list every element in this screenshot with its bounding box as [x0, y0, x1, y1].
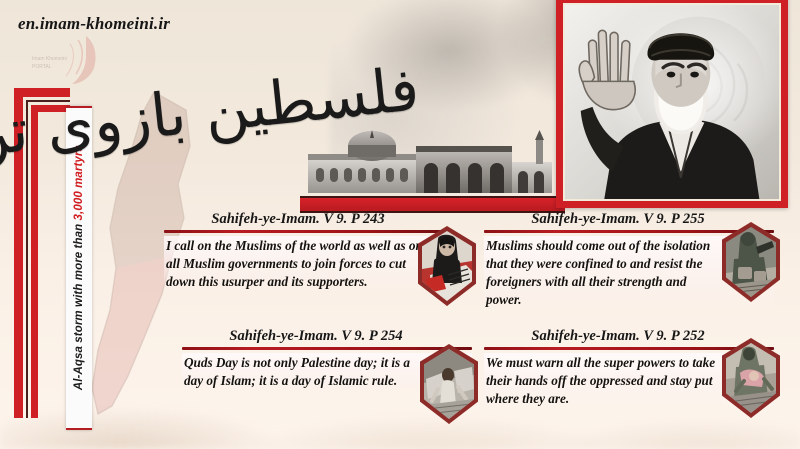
quote-divider-2 — [484, 230, 774, 233]
imam-khomeini-portrait-image — [563, 3, 781, 201]
imam-khomeini-logo-icon: Imam Khomeini PORTAL — [28, 34, 114, 86]
al-aqsa-mosque-image — [300, 128, 565, 193]
vertical-headline-lead: Al-Aqsa storm with more than — [73, 221, 85, 391]
quote-divider-3 — [182, 347, 472, 350]
vertical-headline-text: Al-Aqsa storm with more than 3,000 marty… — [73, 145, 85, 390]
quote-citation-2: Sahifeh-ye-Imam. V 9. P 255 — [484, 211, 774, 228]
site-url-text[interactable]: en.imam-khomeini.ir — [18, 14, 170, 34]
imam-khomeini-portrait-frame — [556, 0, 788, 208]
quote-citation-1: Sahifeh-ye-Imam. V 9. P 243 — [164, 211, 454, 228]
poster-canvas: Imam Khomeini PORTAL en.imam-khomeini.ir… — [0, 0, 800, 449]
quote-citation-4: Sahifeh-ye-Imam. V 9. P 252 — [484, 328, 774, 345]
quote-divider-1 — [164, 230, 454, 233]
svg-text:Imam Khomeini: Imam Khomeini — [32, 56, 67, 62]
quote-citation-3: Sahifeh-ye-Imam. V 9. P 254 — [182, 328, 472, 345]
svg-text:PORTAL: PORTAL — [32, 64, 52, 70]
quote-divider-4 — [484, 347, 774, 350]
quote-card-1: Sahifeh-ye-Imam. V 9. P 243 I call on th… — [164, 211, 454, 293]
quote-text-1: I call on the Muslims of the world as we… — [164, 236, 454, 292]
